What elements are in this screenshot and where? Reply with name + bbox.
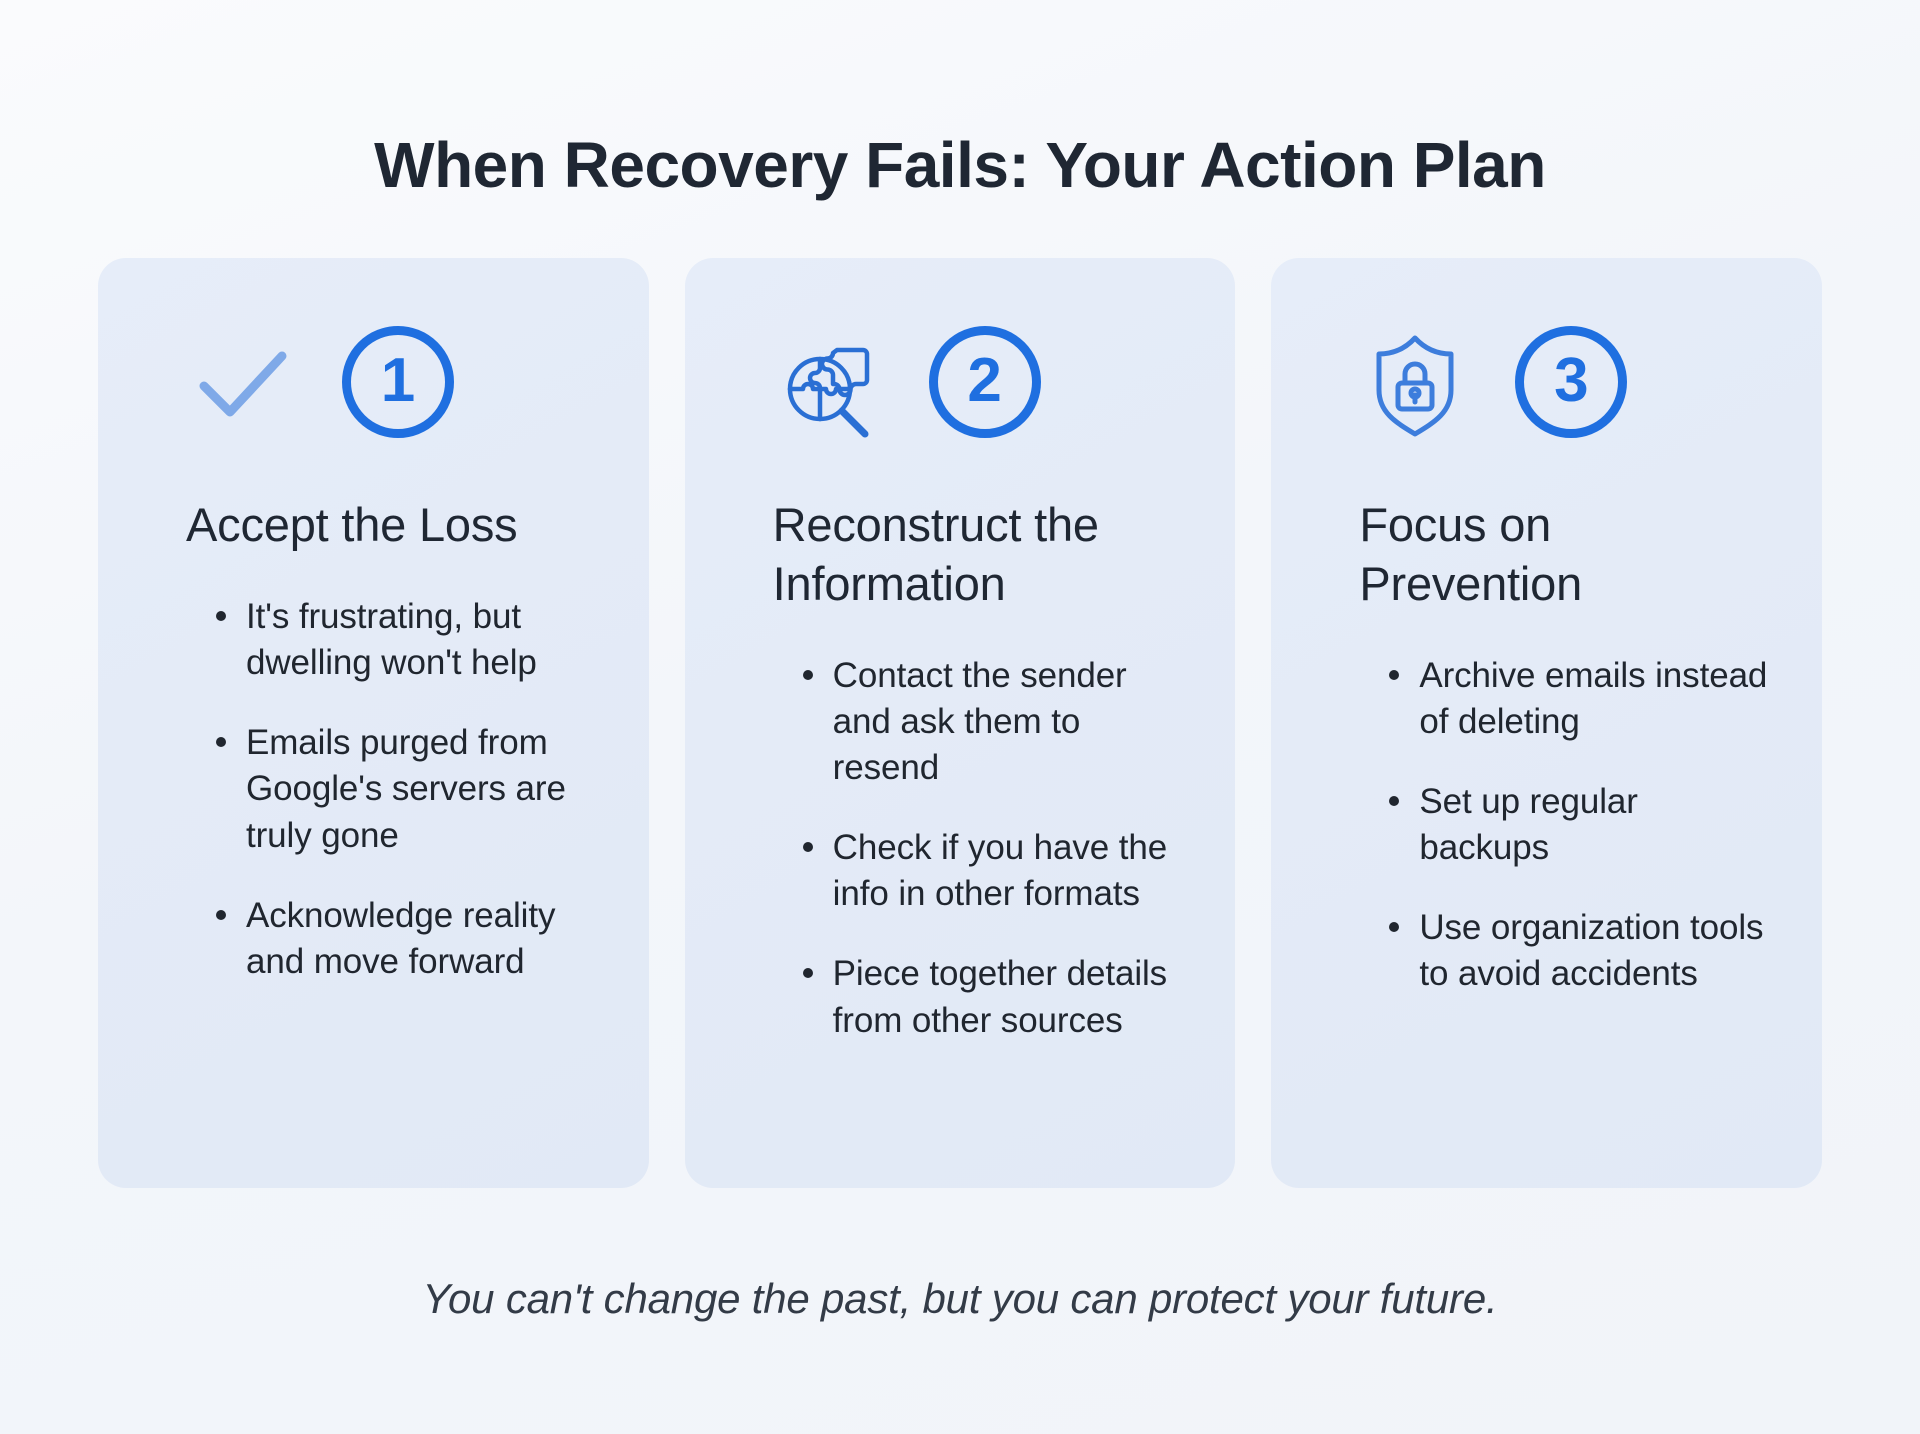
- bullet-dot-icon: [1389, 796, 1399, 806]
- card-icon-row: 2: [737, 316, 1184, 448]
- list-item-text: Set up regular backups: [1419, 782, 1637, 867]
- list-item-text: Emails purged from Google's servers are …: [246, 723, 566, 854]
- card-heading: Reconstruct the Information: [737, 496, 1184, 614]
- checkmark-icon: [186, 326, 298, 438]
- bullet-dot-icon: [216, 910, 226, 920]
- bullet-dot-icon: [1389, 670, 1399, 680]
- page-title: When Recovery Fails: Your Action Plan: [0, 129, 1920, 203]
- card-bullet-list: It's frustrating, but dwelling won't hel…: [150, 594, 597, 985]
- list-item-text: Contact the sender and ask them to resen…: [833, 656, 1127, 787]
- card-focus-on-prevention: 3 Focus on Prevention Archive emails ins…: [1271, 258, 1822, 1188]
- puzzle-magnifier-icon: [773, 326, 885, 438]
- list-item: Contact the sender and ask them to resen…: [803, 653, 1184, 792]
- card-reconstruct-the-information: 2 Reconstruct the Information Contact th…: [685, 258, 1236, 1188]
- bullet-dot-icon: [216, 737, 226, 747]
- list-item: Acknowledge reality and move forward: [216, 893, 597, 985]
- card-accept-the-loss: 1 Accept the Loss It's frustrating, but …: [98, 258, 649, 1188]
- list-item-text: Archive emails instead of deleting: [1419, 656, 1767, 741]
- step-number: 2: [967, 350, 1001, 412]
- card-icon-row: 3: [1323, 316, 1770, 448]
- list-item: Emails purged from Google's servers are …: [216, 720, 597, 859]
- list-item: Set up regular backups: [1389, 779, 1770, 871]
- bullet-dot-icon: [1389, 922, 1399, 932]
- card-heading: Focus on Prevention: [1323, 496, 1770, 614]
- infographic-page: When Recovery Fails: Your Action Plan 1 …: [0, 0, 1920, 1434]
- list-item: Check if you have the info in other form…: [803, 825, 1184, 917]
- step-number: 3: [1554, 350, 1588, 412]
- list-item-text: Check if you have the info in other form…: [833, 828, 1168, 913]
- list-item-text: Acknowledge reality and move forward: [246, 896, 555, 981]
- list-item: Piece together details from other source…: [803, 951, 1184, 1043]
- list-item-text: It's frustrating, but dwelling won't hel…: [246, 597, 537, 682]
- shield-lock-icon: [1359, 326, 1471, 438]
- bullet-dot-icon: [216, 611, 226, 621]
- cards-row: 1 Accept the Loss It's frustrating, but …: [98, 258, 1822, 1188]
- step-number-badge: 3: [1515, 326, 1627, 438]
- bullet-dot-icon: [803, 842, 813, 852]
- card-bullet-list: Archive emails instead of deleting Set u…: [1323, 653, 1770, 998]
- card-bullet-list: Contact the sender and ask them to resen…: [737, 653, 1184, 1044]
- bullet-dot-icon: [803, 670, 813, 680]
- bullet-dot-icon: [803, 968, 813, 978]
- step-number-badge: 2: [929, 326, 1041, 438]
- step-number-badge: 1: [342, 326, 454, 438]
- footer-tagline: You can't change the past, but you can p…: [0, 1275, 1920, 1323]
- card-heading: Accept the Loss: [150, 496, 597, 555]
- step-number: 1: [381, 350, 415, 412]
- list-item: Archive emails instead of deleting: [1389, 653, 1770, 745]
- list-item-text: Piece together details from other source…: [833, 954, 1167, 1039]
- card-icon-row: 1: [150, 316, 597, 448]
- list-item-text: Use organization tools to avoid accident…: [1419, 908, 1763, 993]
- list-item: Use organization tools to avoid accident…: [1389, 905, 1770, 997]
- list-item: It's frustrating, but dwelling won't hel…: [216, 594, 597, 686]
